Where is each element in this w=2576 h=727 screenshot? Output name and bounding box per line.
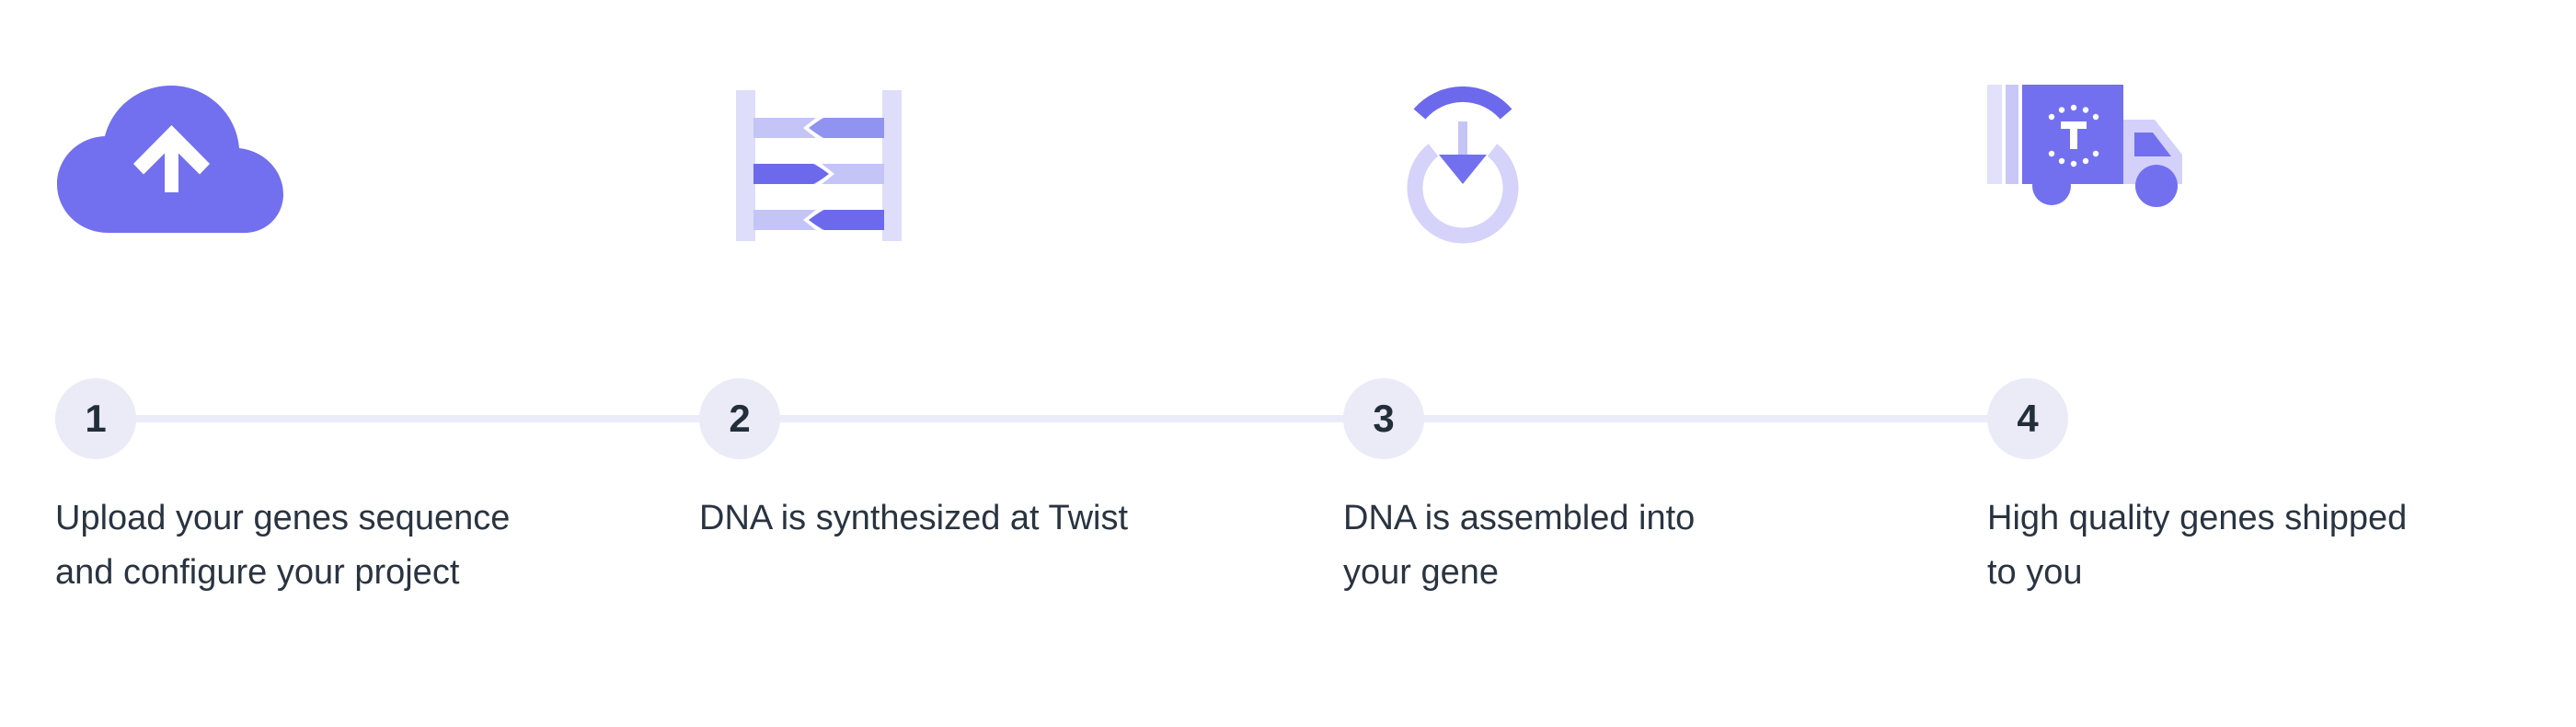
step-caption-4: High quality genes shipped to you: [1987, 491, 2558, 600]
step-number-badge-3: 3: [1343, 378, 1424, 459]
step-connector-1: [133, 415, 722, 422]
step-caption-cell-4: High quality genes shipped to you: [1987, 469, 2576, 727]
steps-grid: 1 2 3 4 Upload your genes sequence and c…: [55, 0, 2521, 727]
step-connector-3: [1421, 415, 2010, 422]
step-marker-cell-4: 4: [1987, 368, 2576, 469]
step-caption-cell-1: Upload your genes sequence and configure…: [55, 469, 699, 727]
step-icon-cell-2: [699, 0, 1343, 368]
step-caption-2: DNA is synthesized at Twist: [699, 491, 1270, 546]
process-diagram: 1 2 3 4 Upload your genes sequence and c…: [0, 0, 2576, 727]
assembly-loop-arrow-icon: [1343, 83, 1582, 294]
step-marker-cell-1: 1: [55, 368, 699, 469]
step-marker-cell-2: 2: [699, 368, 1343, 469]
step-number-badge-1: 1: [55, 378, 136, 459]
step-icon-cell-3: [1343, 0, 1987, 368]
step-number-badge-4: 4: [1987, 378, 2068, 459]
step-icon-cell-4: [1987, 0, 2576, 368]
step-caption-1: Upload your genes sequence and configure…: [55, 491, 626, 600]
delivery-truck-icon: [1987, 83, 2226, 294]
step-icon-cell-1: [55, 0, 699, 368]
step-caption-cell-3: DNA is assembled into your gene: [1343, 469, 1987, 727]
step-number-badge-2: 2: [699, 378, 780, 459]
cloud-upload-icon: [55, 83, 294, 294]
dna-ladder-icon: [699, 83, 938, 294]
step-marker-cell-3: 3: [1343, 368, 1987, 469]
step-caption-3: DNA is assembled into your gene: [1343, 491, 1914, 600]
step-connector-2: [777, 415, 1366, 422]
step-caption-cell-2: DNA is synthesized at Twist: [699, 469, 1343, 727]
